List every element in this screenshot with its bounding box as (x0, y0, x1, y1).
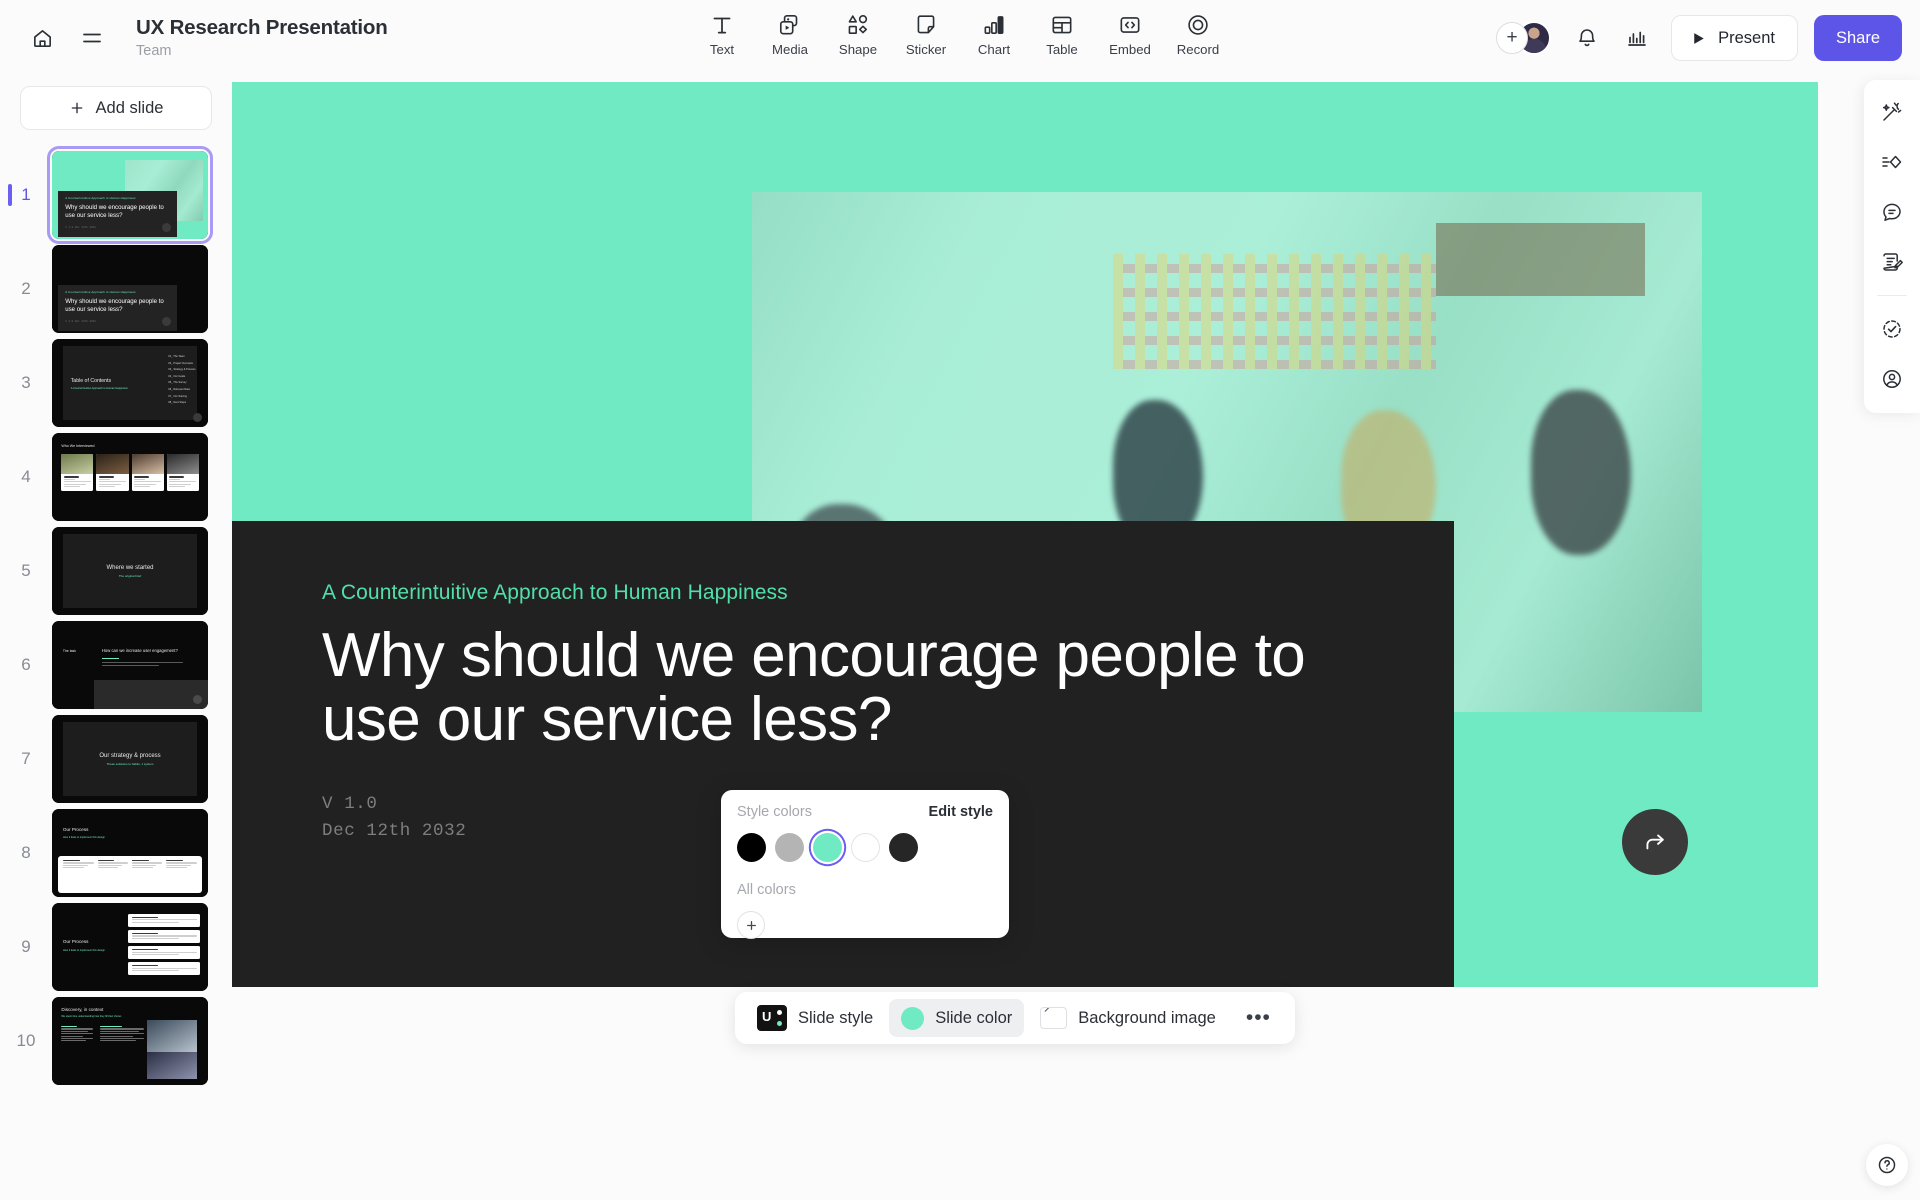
slide-number: 6 (0, 655, 52, 675)
account-icon[interactable] (1872, 359, 1912, 399)
edit-style-button[interactable]: Edit style (929, 804, 993, 820)
slide-thumbnail-6[interactable]: 6 The task How can we increase user enga… (0, 618, 232, 712)
slide-thumbnail-2[interactable]: 2 A Counterintuitive Approach to Human H… (0, 242, 232, 336)
header-right-group: + Present Share (1496, 0, 1902, 76)
tool-record[interactable]: Record (1164, 6, 1232, 61)
slide-style-label: Slide style (798, 1009, 873, 1028)
collaborators: + (1496, 21, 1551, 55)
style-colors-label: Style colors (737, 804, 812, 820)
thumbnail-canvas[interactable]: Where we started The original brief (52, 527, 208, 615)
tool-label: Chart (978, 42, 1010, 57)
thumb-title: Who We Interviewed (61, 444, 94, 448)
slide-eyebrow: A Counterintuitive Approach to Human Hap… (322, 581, 788, 605)
tool-label: Shape (839, 42, 877, 57)
thumb-eyebrow: A Counterintuitive Approach to Human Hap… (65, 196, 170, 200)
slide-number: 7 (0, 749, 52, 769)
add-collaborator-button[interactable]: + (1496, 22, 1528, 54)
slide-color-swatch (901, 1007, 924, 1030)
plus-icon (745, 919, 758, 932)
thumb-eyebrow: A Counterintuitive Approach to Human Hap… (65, 290, 170, 294)
slide-thumbnail-8[interactable]: 8 Our Process How it feels to implement … (0, 806, 232, 900)
slide-number: 8 (0, 843, 52, 863)
slide-number: 10 (0, 1031, 52, 1051)
slide-color-button[interactable]: Slide color (889, 999, 1024, 1037)
swatch-gray[interactable] (775, 833, 804, 862)
slide-headline[interactable]: Why should we encourage people to use ou… (322, 624, 1332, 753)
swatch-charcoal[interactable] (889, 833, 918, 862)
analytics-bars-icon[interactable] (1615, 16, 1659, 60)
tool-label: Text (710, 42, 734, 57)
swatch-mint[interactable] (813, 833, 842, 862)
add-slide-button[interactable]: Add slide (20, 86, 212, 130)
tool-shape[interactable]: Shape (824, 6, 892, 61)
comment-icon[interactable] (1872, 192, 1912, 232)
background-image-label: Background image (1078, 1009, 1216, 1028)
thumb-meta: V 1.0 Dec 12th 2032 (65, 320, 170, 323)
presentation-editor: UX Research Presentation Team Text Media (0, 0, 1920, 1200)
slide-number: 4 (0, 467, 52, 487)
add-slide-label: Add slide (96, 99, 164, 118)
tool-text[interactable]: Text (688, 6, 756, 61)
magic-design-icon[interactable] (1872, 92, 1912, 132)
animation-icon[interactable] (1872, 142, 1912, 182)
document-title-block[interactable]: UX Research Presentation Team (136, 16, 388, 59)
thumbnail-canvas[interactable]: Our Process How it feels to implement th… (52, 809, 208, 897)
thumbnail-canvas[interactable]: Table of Contents A Counterintuitive App… (52, 339, 208, 427)
slide-style-icon-letter: U (762, 1010, 771, 1023)
arrow-forward-icon[interactable] (1622, 809, 1688, 875)
active-slide-marker (8, 184, 12, 206)
page-title: UX Research Presentation (136, 16, 388, 40)
thumb-toc-sub: A Counterintuitive Approach to Human Hap… (71, 387, 128, 391)
thumb-headline: Why should we encourage people to use ou… (65, 204, 170, 221)
slide-thumbnail-7[interactable]: 7 Our strategy & process These solutions… (0, 712, 232, 806)
thumb-title: Where we started (106, 565, 153, 571)
bell-icon[interactable] (1565, 16, 1609, 60)
background-image-button[interactable]: Background image (1028, 999, 1228, 1037)
thumbnail-canvas[interactable]: A Counterintuitive Approach to Human Hap… (52, 245, 208, 333)
thumbnail-canvas[interactable]: Discovery, in context We spent time unde… (52, 997, 208, 1085)
thumb-sub: These solutions to habits, 1 system (107, 762, 154, 766)
slide-thumbnail-4[interactable]: 4 Who We Interviewed (0, 430, 232, 524)
slide-thumbnail-list: 1 A Counterintuitive Approach to Human H… (0, 148, 232, 1088)
tool-media[interactable]: Media (756, 6, 824, 61)
thumbnail-canvas[interactable]: The task How can we increase user engage… (52, 621, 208, 709)
home-icon[interactable] (20, 16, 64, 60)
current-slide[interactable]: A Counterintuitive Approach to Human Hap… (232, 82, 1818, 987)
help-icon[interactable] (1866, 1144, 1908, 1186)
thumbnail-canvas[interactable]: A Counterintuitive Approach to Human Hap… (52, 151, 208, 239)
thumbnail-canvas[interactable]: Who We Interviewed (52, 433, 208, 521)
all-colors-label: All colors (737, 882, 993, 898)
slide-number: 9 (0, 937, 52, 957)
slide-meta: V 1.0Dec 12th 2032 (322, 791, 466, 845)
thumb-sub: How it feels to implement this design (63, 836, 105, 839)
thumb-meta: V 1.0 Dec 12th 2032 (65, 226, 170, 229)
app-header: UX Research Presentation Team Text Media (0, 0, 1920, 76)
slide-version: V 1.0 (322, 794, 378, 814)
present-button[interactable]: Present (1671, 15, 1798, 61)
slide-style-icon: U (757, 1005, 787, 1031)
slide-thumbnail-9[interactable]: 9 Our Process How it feels to implement … (0, 900, 232, 994)
thumb-sub: How it feels to implement this design (63, 949, 105, 952)
style-swatch-list (737, 833, 993, 862)
share-button[interactable]: Share (1814, 15, 1902, 61)
share-button-label: Share (1836, 29, 1880, 48)
header-left-group: UX Research Presentation Team (0, 16, 388, 60)
slide-number: 5 (0, 561, 52, 581)
tool-label: Table (1046, 42, 1078, 57)
thumb-sub: The original brief (119, 574, 141, 578)
thumbnail-canvas[interactable]: Our Process How it feels to implement th… (52, 903, 208, 991)
slide-date: Dec 12th 2032 (322, 821, 466, 841)
slide-thumbnail-1[interactable]: 1 A Counterintuitive Approach to Human H… (0, 148, 232, 242)
style-colors-popover: Style colors Edit style All colors (721, 790, 1009, 938)
thumb-task-label: The task (63, 649, 76, 653)
thumb-title: Our strategy & process (99, 753, 160, 759)
plus-icon (69, 100, 85, 116)
thumb-headline: Why should we encourage people to use ou… (65, 298, 170, 315)
document-subtitle: Team (136, 43, 388, 60)
slide-navigator: Add slide 1 A Counterintuitive Approach … (0, 76, 232, 1200)
slide-thumbnail-3[interactable]: 3 Table of Contents A Counterintuitive A… (0, 336, 232, 430)
tool-label: Sticker (906, 42, 946, 57)
slide-style-button[interactable]: U Slide style (745, 999, 885, 1037)
thumb-title: Our Process (63, 827, 89, 832)
slide-thumbnail-5[interactable]: 5 Where we started The original brief (0, 524, 232, 618)
slide-format-toolbar: U Slide style Slide color Background ima… (735, 992, 1295, 1044)
tool-label: Media (772, 42, 808, 57)
tool-embed[interactable]: Embed (1096, 6, 1164, 61)
present-button-label: Present (1718, 29, 1775, 48)
thumbnail-canvas[interactable]: Our strategy & process These solutions t… (52, 715, 208, 803)
no-image-icon (1040, 1007, 1067, 1029)
thumb-title: Discovery, in context (61, 1007, 103, 1012)
slide-number: 2 (0, 279, 52, 299)
rail-divider (1877, 295, 1907, 296)
swatch-white[interactable] (851, 833, 880, 862)
thumb-toc-title: Table of Contents (71, 378, 111, 384)
slide-color-label: Slide color (935, 1009, 1012, 1028)
tool-label: Record (1177, 42, 1220, 57)
thumb-sub: We spent time understanding how they fil… (61, 1015, 121, 1018)
tool-sticker[interactable]: Sticker (892, 6, 960, 61)
hamburger-menu-icon[interactable] (70, 16, 114, 60)
right-sidebar (1864, 80, 1920, 413)
insert-toolbar: Text Media Shape (688, 6, 1232, 61)
tool-table[interactable]: Table (1028, 6, 1096, 61)
play-icon (1690, 30, 1707, 47)
thumb-title: Our Process (63, 939, 89, 944)
tasks-check-icon[interactable] (1872, 309, 1912, 349)
add-color-button[interactable] (737, 911, 765, 939)
swatch-black[interactable] (737, 833, 766, 862)
tool-label: Embed (1109, 42, 1151, 57)
slide-number: 3 (0, 373, 52, 393)
tool-chart[interactable]: Chart (960, 6, 1028, 61)
speaker-notes-icon[interactable] (1872, 242, 1912, 282)
slide-thumbnail-10[interactable]: 10 Discovery, in context We spent time u… (0, 994, 232, 1088)
thumb-toc-items: 01_ The Team02_ Project Overview03_ Stra… (168, 354, 195, 407)
thumb-title: How can we increase user engagement? (102, 648, 178, 653)
